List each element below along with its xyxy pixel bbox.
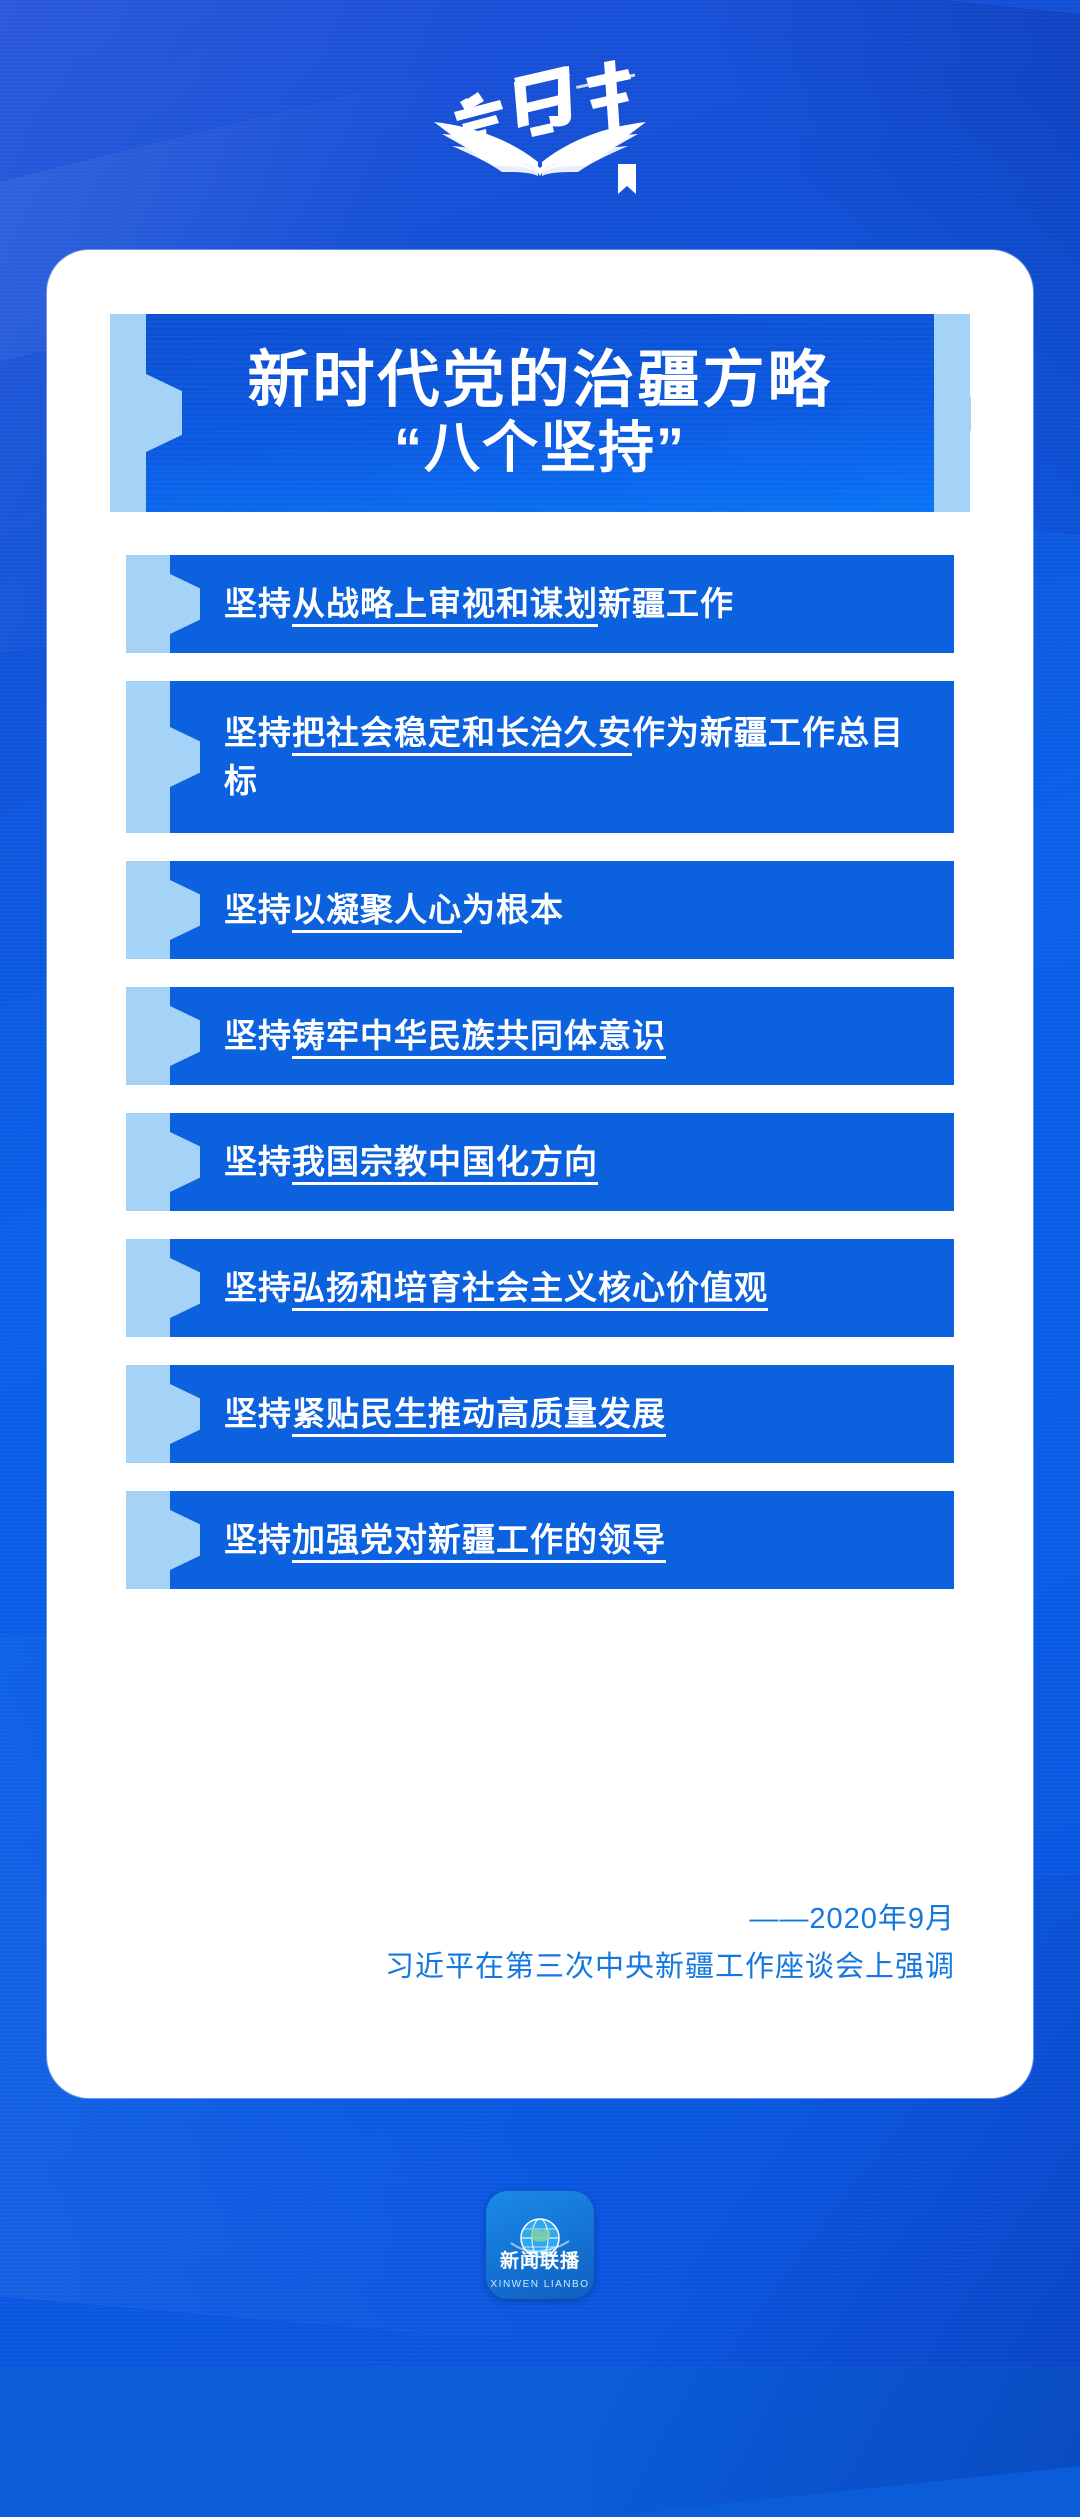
open-book-icon [390, 42, 690, 202]
principles-list: 坚持从战略上审视和谋划新疆工作 坚持把社会稳定和长治久安作为新疆工作总目标 坚持… [47, 555, 1033, 1617]
header-logo [0, 42, 1080, 202]
title-body: 新时代党的治疆方略 “八个坚持” [146, 314, 934, 512]
list-item-prefix: 坚持 [224, 714, 292, 751]
list-item-underlined: 铸牢中华民族共同体意识 [292, 1017, 666, 1059]
list-item-prefix: 坚持 [224, 1521, 292, 1558]
list-item-prefix: 坚持 [224, 1017, 292, 1054]
attribution: ——2020年9月 习近平在第三次中央新疆工作座谈会上强调 [385, 1896, 955, 1992]
list-item-text: 坚持把社会稳定和长治久安作为新疆工作总目标 [224, 709, 928, 805]
bottom-logo: 新闻联播 XINWEN LIANBO [0, 2191, 1080, 2299]
list-item-body: 坚持以凝聚人心为根本 [170, 861, 954, 959]
list-item-underlined: 弘扬和培育社会主义核心价值观 [292, 1269, 768, 1311]
list-item-body: 坚持铸牢中华民族共同体意识 [170, 987, 954, 1085]
list-item[interactable]: 坚持从战略上审视和谋划新疆工作 [126, 555, 954, 653]
list-item-text: 坚持以凝聚人心为根本 [224, 886, 564, 934]
list-item[interactable]: 坚持以凝聚人心为根本 [126, 861, 954, 959]
attribution-date: ——2020年9月 [385, 1896, 955, 1944]
list-item-text: 坚持从战略上审视和谋划新疆工作 [224, 580, 734, 628]
page-title-line1: 新时代党的治疆方略 [247, 348, 832, 413]
list-item-text: 坚持紧贴民生推动高质量发展 [224, 1390, 666, 1438]
list-item-prefix: 坚持 [224, 1269, 292, 1306]
list-item-text: 坚持弘扬和培育社会主义核心价值观 [224, 1264, 768, 1312]
attribution-source: 习近平在第三次中央新疆工作座谈会上强调 [385, 1944, 955, 1992]
list-item-prefix: 坚持 [224, 891, 292, 928]
list-item-body: 坚持把社会稳定和长治久安作为新疆工作总目标 [170, 681, 954, 833]
list-item-body: 坚持我国宗教中国化方向 [170, 1113, 954, 1211]
page-title-line2: “八个坚持” [394, 417, 686, 479]
title-banner: 新时代党的治疆方略 “八个坚持” [110, 314, 970, 512]
list-item-prefix: 坚持 [224, 1395, 292, 1432]
list-item[interactable]: 坚持我国宗教中国化方向 [126, 1113, 954, 1211]
list-item-prefix: 坚持 [224, 585, 292, 622]
list-item-underlined: 把社会稳定和长治久安 [292, 714, 632, 756]
list-item-underlined: 紧贴民生推动高质量发展 [292, 1395, 666, 1437]
list-item[interactable]: 坚持加强党对新疆工作的领导 [126, 1491, 954, 1589]
list-item-body: 坚持紧贴民生推动高质量发展 [170, 1365, 954, 1463]
list-item-prefix: 坚持 [224, 1143, 292, 1180]
list-item-underlined: 加强党对新疆工作的领导 [292, 1521, 666, 1563]
list-item[interactable]: 坚持弘扬和培育社会主义核心价值观 [126, 1239, 954, 1337]
list-item-suffix: 新疆工作 [598, 585, 734, 622]
list-item-body: 坚持从战略上审视和谋划新疆工作 [170, 555, 954, 653]
list-item-underlined: 从战略上审视和谋划 [292, 585, 598, 627]
xinwen-lianbo-badge[interactable]: 新闻联播 XINWEN LIANBO [486, 2191, 594, 2299]
list-item-body: 坚持加强党对新疆工作的领导 [170, 1491, 954, 1589]
badge-label-cn: 新闻联播 [486, 2246, 594, 2273]
list-item-underlined: 我国宗教中国化方向 [292, 1143, 598, 1185]
list-item-text: 坚持我国宗教中国化方向 [224, 1138, 598, 1186]
list-item-text: 坚持加强党对新疆工作的领导 [224, 1516, 666, 1564]
list-item[interactable]: 坚持铸牢中华民族共同体意识 [126, 987, 954, 1085]
main-card: 新时代党的治疆方略 “八个坚持” 坚持从战略上审视和谋划新疆工作 坚持把社会稳定… [47, 250, 1033, 2098]
list-item[interactable]: 坚持把社会稳定和长治久安作为新疆工作总目标 [126, 681, 954, 833]
list-item-suffix: 为根本 [462, 891, 564, 928]
list-item-body: 坚持弘扬和培育社会主义核心价值观 [170, 1239, 954, 1337]
badge-label-en: XINWEN LIANBO [486, 2279, 594, 2290]
list-item[interactable]: 坚持紧贴民生推动高质量发展 [126, 1365, 954, 1463]
list-item-underlined: 以凝聚人心 [292, 891, 462, 933]
list-item-text: 坚持铸牢中华民族共同体意识 [224, 1012, 666, 1060]
